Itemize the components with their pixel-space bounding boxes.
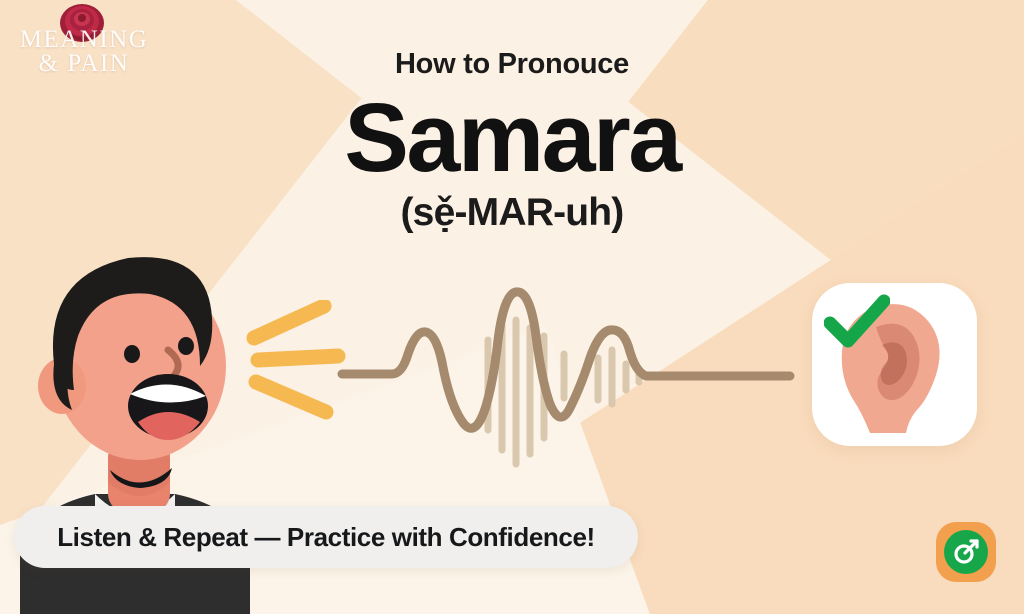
- brand-logo-line-1: MEANING: [4, 28, 164, 52]
- audio-waveform-icon: [336, 278, 796, 478]
- app-badge[interactable]: [936, 522, 996, 582]
- app-badge-circle: [944, 530, 988, 574]
- page-title: Samara: [0, 87, 1024, 189]
- green-check-icon: [824, 293, 890, 349]
- pronunciation-card: MEANING & PAIN How to Pronouce Samara (s…: [0, 0, 1024, 614]
- brand-logo-text: MEANING & PAIN: [4, 28, 164, 76]
- cta-banner[interactable]: Listen & Repeat — Practice with Confiden…: [14, 506, 638, 568]
- brand-logo-line-2: & PAIN: [4, 52, 164, 76]
- speech-lines-icon: [246, 300, 356, 420]
- phonetic-spelling: (sẹ̌-MAR-uh): [0, 191, 1024, 235]
- listen-ear-card[interactable]: [812, 283, 977, 446]
- cta-banner-text: Listen & Repeat — Practice with Confiden…: [57, 522, 595, 553]
- target-arrow-icon: [952, 538, 980, 566]
- brand-logo: MEANING & PAIN: [4, 2, 164, 94]
